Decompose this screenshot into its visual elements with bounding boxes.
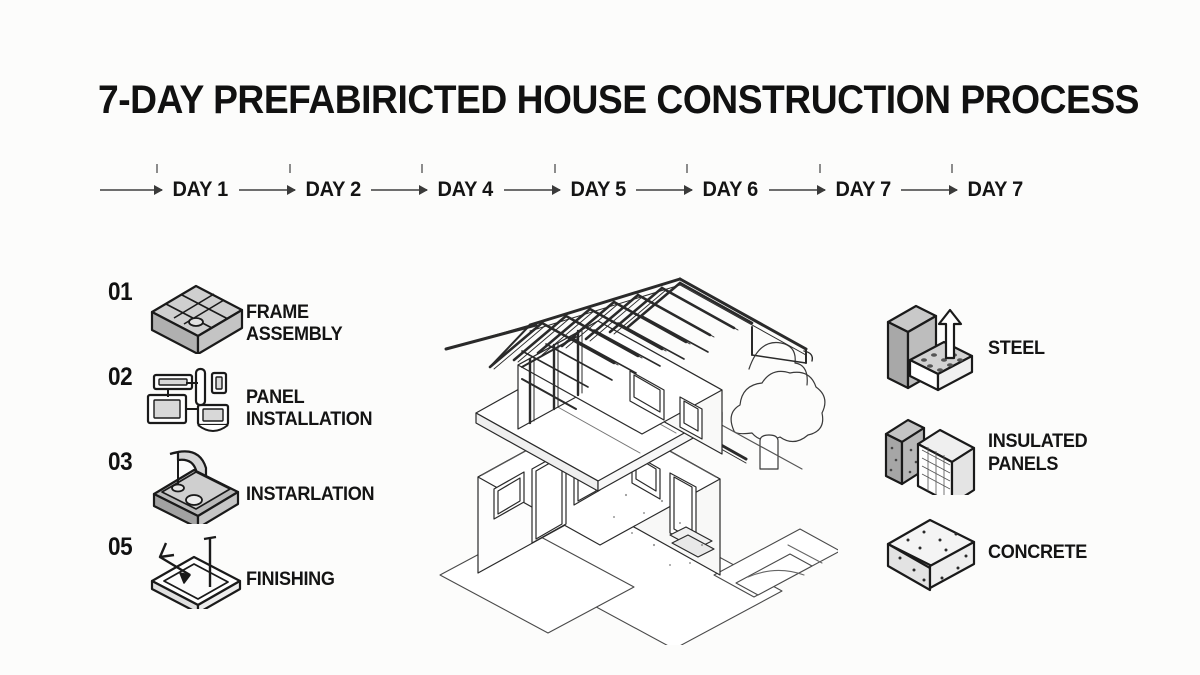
timeline-arrow-4	[636, 180, 692, 200]
timeline-arrow-6	[901, 180, 957, 200]
timeline-day-label[interactable]: DAY 7	[827, 178, 900, 202]
step-label: FINISHING	[246, 569, 335, 591]
step-label: PANEL INSTALLATION	[246, 387, 372, 432]
step-number: 05	[108, 533, 132, 562]
timeline-day-label[interactable]: DAY 6	[694, 178, 767, 202]
timeline-arrow-5	[769, 180, 825, 200]
flat-panels-icon	[144, 357, 248, 439]
slab-crane-icon	[144, 442, 248, 524]
materials-legend: STEEL INSULATED PANELS	[880, 298, 1180, 604]
material-label: CONCRETE	[988, 542, 1087, 565]
process-step[interactable]: 02 PANEL INSTALLATION	[108, 357, 438, 442]
process-steps-list: 01 FRAME ASSEMBLY02 PANEL INSTALLAT	[108, 272, 438, 612]
timeline-day-label[interactable]: DAY 4	[429, 178, 502, 202]
step-number: 02	[108, 363, 132, 392]
step-label: INSTARLATION	[246, 484, 374, 506]
material-item[interactable]: CONCRETE	[880, 502, 1180, 604]
process-step[interactable]: 05 FINISHING	[108, 527, 438, 612]
timeline-day-label[interactable]: DAY 1	[164, 178, 237, 202]
timeline-day-label[interactable]: DAY 2	[296, 178, 369, 202]
isometric-block-icon	[144, 272, 248, 354]
process-step[interactable]: 01 FRAME ASSEMBLY	[108, 272, 438, 357]
timeline-arrow-3	[504, 180, 560, 200]
timeline-arrow-0	[100, 180, 162, 200]
material-item[interactable]: STEEL	[880, 298, 1180, 400]
tree-icon	[718, 343, 825, 469]
step-label: FRAME ASSEMBLY	[246, 302, 342, 347]
concrete-block-icon	[880, 502, 980, 597]
material-item[interactable]: INSULATED PANELS	[880, 400, 1180, 502]
steel-slab-icon	[880, 298, 980, 393]
page-title: 7-DAY PREFABIRICTED HOUSE CONSTRUCTION P…	[98, 78, 1139, 123]
step-number: 03	[108, 448, 132, 477]
timeline-arrow-2	[371, 180, 427, 200]
material-label: STEEL	[988, 338, 1045, 361]
insulated-panel-icon	[880, 400, 980, 495]
timeline-arrow-1	[239, 180, 295, 200]
step-number: 01	[108, 278, 132, 307]
timeline-day-label[interactable]: DAY 5	[562, 178, 635, 202]
process-step[interactable]: 03 INSTARLATION	[108, 442, 438, 527]
isometric-prefab-house-illustration	[418, 245, 838, 645]
frame-tools-icon	[144, 527, 248, 609]
material-label: INSULATED PANELS	[988, 431, 1087, 477]
timeline-day-label[interactable]: DAY 7	[959, 178, 1032, 202]
timeline: DAY 1DAY 2DAY 4DAY 5DAY 6DAY 7DAY 7	[100, 168, 1110, 212]
